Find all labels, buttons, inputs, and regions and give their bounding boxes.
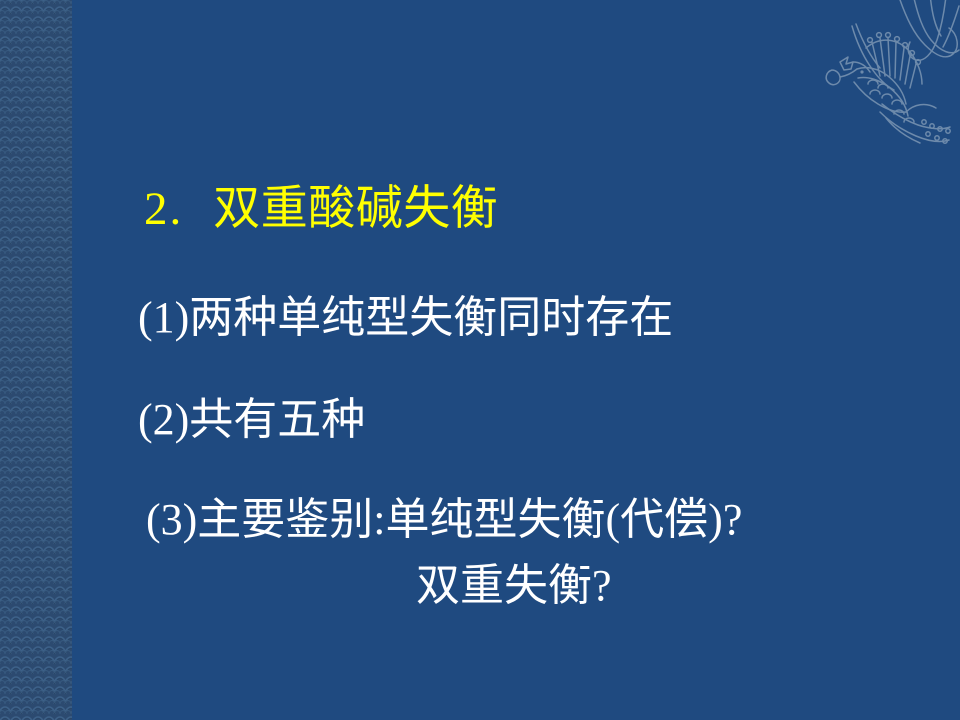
slide-title: 2.双重酸碱失衡 xyxy=(144,186,498,233)
bullet-line-3: (3)主要鉴别:单纯型失衡(代偿)? xyxy=(146,498,742,542)
bullet-line-2: (2)共有五种 xyxy=(138,398,365,442)
slide-canvas: 2.双重酸碱失衡 (1)两种单纯型失衡同时存在 (2)共有五种 (3)主要鉴别:… xyxy=(0,0,960,720)
bullet-line-4-continuation: 双重失衡? xyxy=(416,564,612,608)
bullet-line-1: (1)两种单纯型失衡同时存在 xyxy=(138,296,673,340)
slide-text-content: 2.双重酸碱失衡 (1)两种单纯型失衡同时存在 (2)共有五种 (3)主要鉴别:… xyxy=(0,0,960,720)
slide-title-text: 双重酸碱失衡 xyxy=(213,183,498,235)
slide-title-number: 2. xyxy=(144,183,183,235)
